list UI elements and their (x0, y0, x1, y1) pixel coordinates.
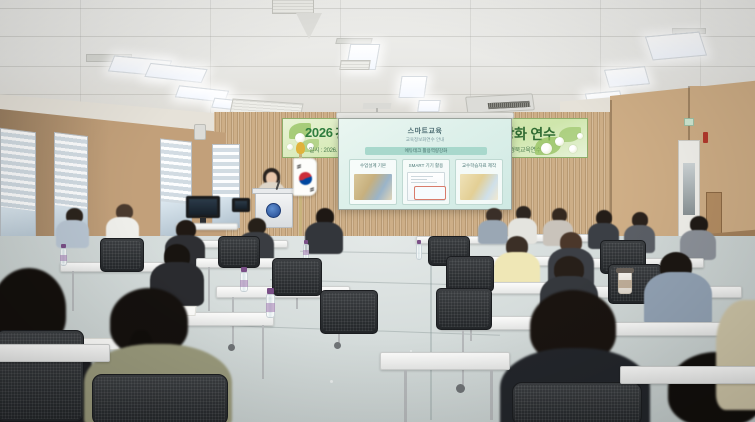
slide-card-heading: 수업설계 기본 (350, 163, 396, 169)
ceiling-panel-light (645, 32, 707, 61)
slide-card-heading: SMART 기기 활용 (403, 163, 449, 169)
slide-card: 수업설계 기본 (349, 159, 397, 205)
back-monitor (232, 198, 250, 212)
ceiling-air-vent (272, 0, 314, 14)
slide-section-bar: 에듀테크 활용역량강화 (365, 147, 487, 155)
taeguk-symbol (297, 170, 314, 187)
projection-screen: 스마트교육 교육정보화연수 안내 에듀테크 활용역량강화 수업설계 기본 SMA… (338, 118, 512, 210)
ceiling-air-vent (339, 60, 370, 70)
slide-title: 스마트교육 (339, 126, 511, 136)
ceiling-diffuser-cone (296, 13, 322, 39)
slide-subtitle: 교육정보화연수 안내 (339, 137, 511, 143)
slide-card-image (354, 174, 392, 200)
coffee-cup-sleeve (618, 280, 632, 288)
fire-alarm-icon (703, 132, 708, 143)
podium-emblem (266, 203, 281, 218)
operator-monitor (186, 196, 220, 218)
slide-content: 스마트교육 교육정보화연수 안내 에듀테크 활용역량강화 수업설계 기본 SMA… (339, 119, 511, 209)
wall-speaker (194, 124, 206, 140)
seminar-room-photo: 2026 경북 일시 : 2026. 4. 량강화 연수 장소 : 경북교육연수… (0, 0, 755, 422)
table-foreground-right2 (620, 366, 755, 384)
podium-top (252, 188, 296, 194)
slide-card-heading: 교수학습자료 제작 (456, 163, 502, 169)
slide-card: 교수학습자료 제작 (455, 159, 503, 205)
slide-card-image (407, 172, 445, 201)
ceiling-panel-light (417, 100, 441, 112)
ceiling-panel-light (604, 66, 650, 88)
slide-card: SMART 기기 활용 (402, 159, 450, 205)
flag-finial (296, 142, 305, 154)
ceiling-panel-light (398, 76, 427, 98)
banner-year: 2026 (305, 125, 333, 140)
table-foreground-left (0, 344, 110, 362)
coffee-cup-lid (616, 268, 634, 273)
window-left-far (0, 128, 36, 248)
table-foreground-right (380, 352, 510, 370)
korean-national-flag (293, 158, 317, 196)
exit-sign (684, 118, 694, 126)
slide-card-image (460, 174, 498, 200)
